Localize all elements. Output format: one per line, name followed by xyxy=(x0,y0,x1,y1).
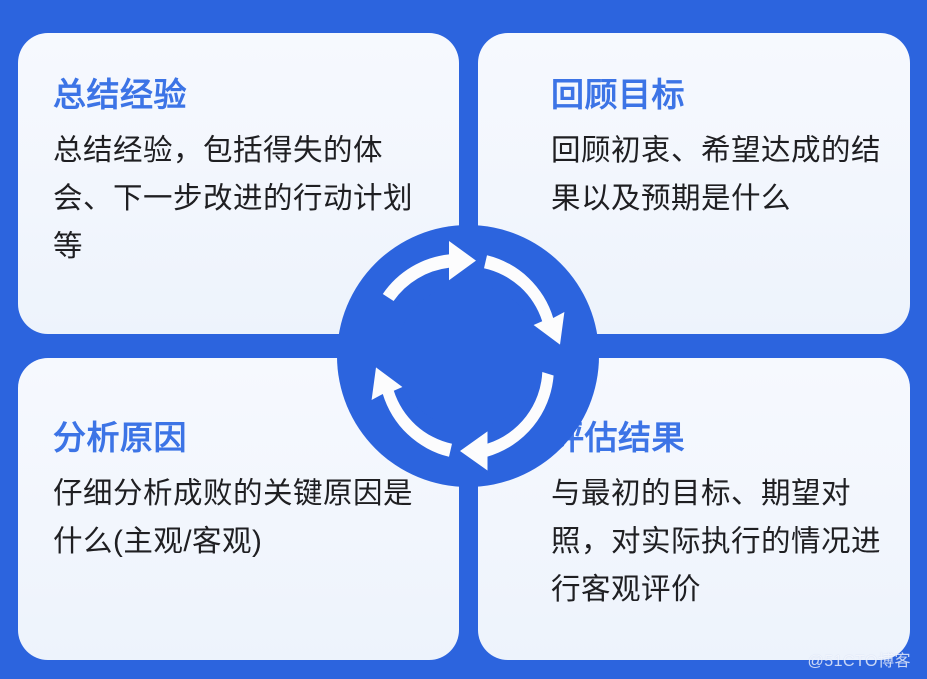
card-body: 与最初的目标、期望对照，对实际执行的情况进行客观评价 xyxy=(551,470,896,614)
card-title: 总结经验 xyxy=(53,77,459,113)
infographic-canvas: 总结经验 总结经验，包括得失的体会、下一步改进的行动计划等 回顾目标 回顾初衷、… xyxy=(0,0,927,679)
cycle-arrows-icon xyxy=(337,225,599,487)
card-title: 回顾目标 xyxy=(551,77,910,113)
watermark: @51CTO博客 xyxy=(807,647,911,671)
card-title: 评估结果 xyxy=(551,420,910,456)
card-content: 回顾目标 回顾初衷、希望达成的结果以及预期是什么 xyxy=(478,33,910,223)
cycle-core xyxy=(396,284,540,428)
card-body: 回顾初衷、希望达成的结果以及预期是什么 xyxy=(551,127,896,223)
